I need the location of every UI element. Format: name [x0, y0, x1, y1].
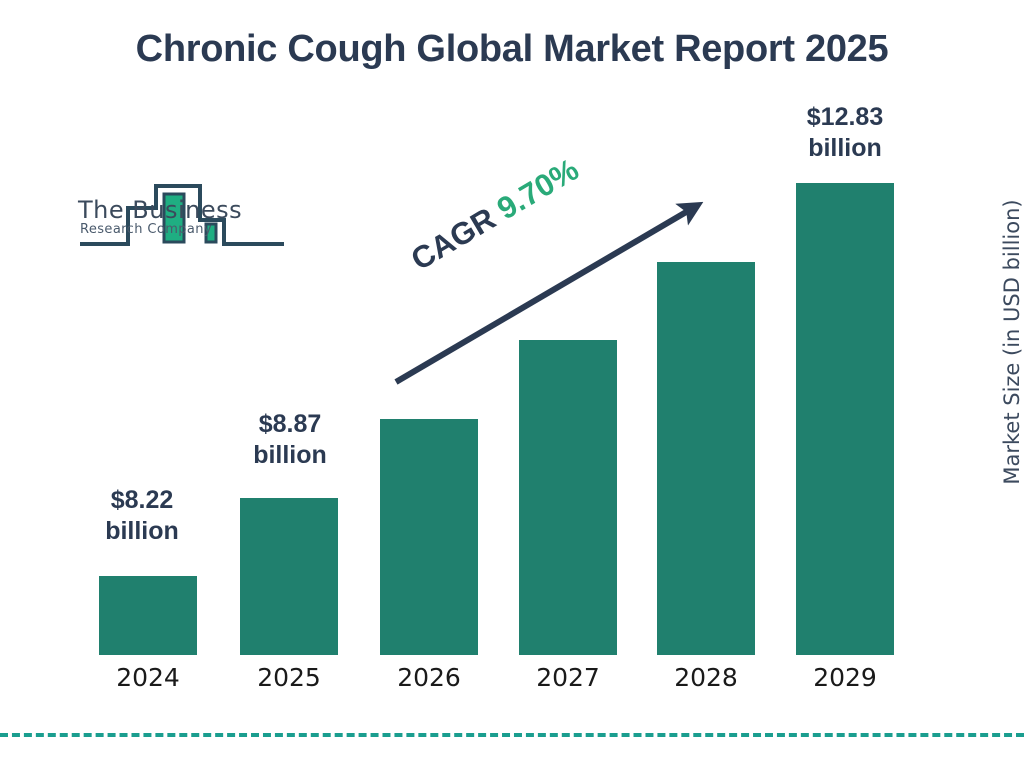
bar-value-line2: billion [72, 516, 212, 547]
bar-2028 [657, 262, 755, 655]
chart-page: Chronic Cough Global Market Report 2025 … [0, 0, 1024, 768]
x-tick-2028: 2028 [656, 663, 756, 692]
bar-2026 [380, 419, 478, 655]
bar-2024 [99, 576, 197, 655]
bar-value-label-2024: $8.22 billion [72, 485, 212, 546]
x-tick-2026: 2026 [379, 663, 479, 692]
x-tick-2024: 2024 [98, 663, 198, 692]
bar-value-line1: $8.87 [215, 409, 365, 440]
bar-value-line2: billion [215, 440, 365, 471]
bar-value-line1: $12.83 [770, 102, 920, 133]
bottom-divider [0, 733, 1024, 737]
bar-value-label-2029: $12.83 billion [770, 102, 920, 163]
x-tick-2027: 2027 [518, 663, 618, 692]
x-tick-2029: 2029 [795, 663, 895, 692]
bar-chart-plot: $8.22 billion 2024 $8.87 billion 2025 20… [0, 0, 1024, 768]
bar-value-label-2025: $8.87 billion [215, 409, 365, 470]
bar-2027 [519, 340, 617, 655]
bar-value-line1: $8.22 [72, 485, 212, 516]
bar-value-line2: billion [770, 133, 920, 164]
y-axis-title: Market Size (in USD billion) [1000, 182, 1024, 502]
x-tick-2025: 2025 [239, 663, 339, 692]
bar-2029 [796, 183, 894, 655]
bar-2025 [240, 498, 338, 655]
